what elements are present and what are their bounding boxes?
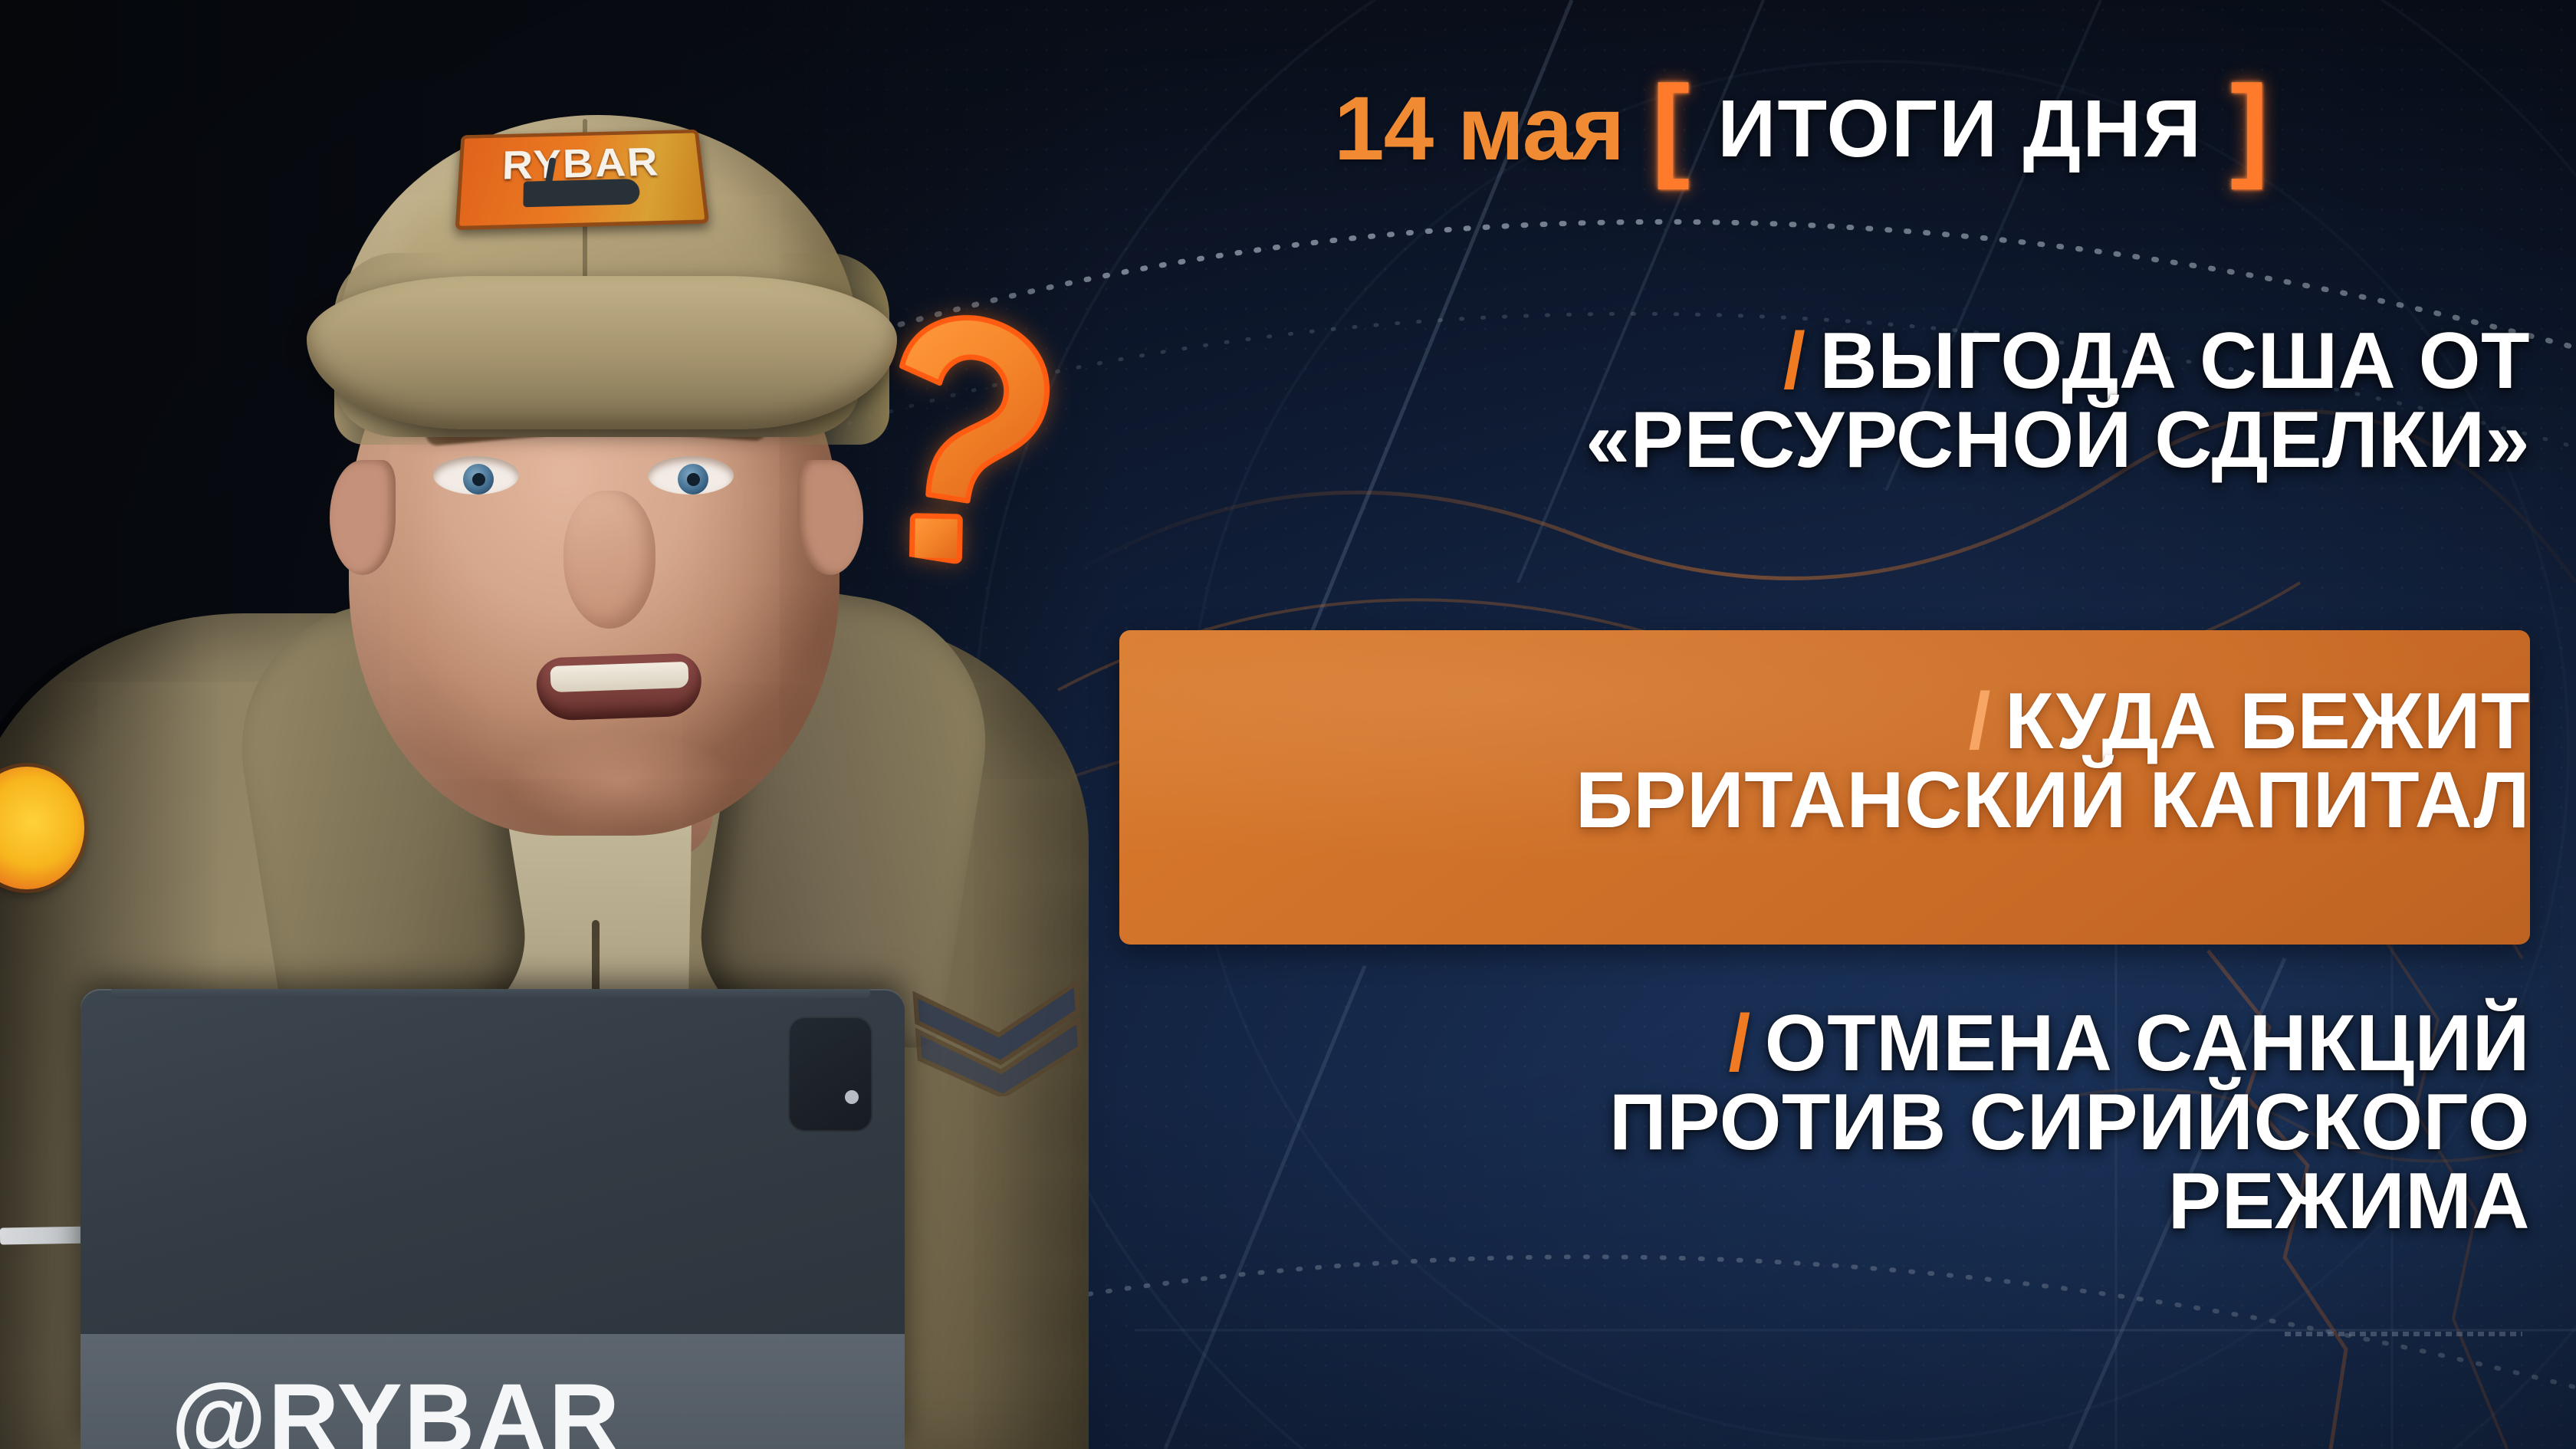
headline-1-line-1: /ВЫГОДА США ОТ <box>1181 322 2530 401</box>
tablet-camera-module <box>788 1017 872 1132</box>
headline-3-text-3: РЕЖИМА <box>1150 1162 2530 1241</box>
pupil-right <box>687 473 700 486</box>
rank-chevron-icon <box>907 975 1091 1102</box>
ear-left <box>330 460 396 575</box>
header-bar: 14 мая [ ИТОГИ ДНЯ ] <box>1334 77 2269 181</box>
presenter-figure: RYBAR @RYBAR <box>0 0 1150 1449</box>
headline-item-2: /КУДА БЕЖИТ БРИТАНСКИЙ КАПИТАЛ <box>1196 682 2530 840</box>
headline-3-text-2: ПРОТИВ СИРИЙСКОГО <box>1150 1083 2530 1162</box>
fish-icon <box>523 179 640 207</box>
nose <box>563 491 655 629</box>
headline-item-3: /ОТМЕНА САНКЦИЙ ПРОТИВ СИРИЙСКОГО РЕЖИМА <box>1150 1004 2530 1241</box>
presenter-tablet: @RYBAR <box>80 989 905 1449</box>
cap-brim <box>307 276 897 429</box>
headline-3-text-1: ОТМЕНА САНКЦИЙ <box>1765 999 2530 1088</box>
headline-2-marker: / <box>1969 682 1991 761</box>
cap-logo-patch: RYBAR <box>455 130 710 230</box>
teeth <box>550 662 688 692</box>
headline-item-1: /ВЫГОДА США ОТ «РЕСУРСНОЙ СДЕЛКИ» <box>1181 322 2530 480</box>
headline-2-text-1: КУДА БЕЖИТ <box>2005 677 2530 766</box>
headline-1-text-2: «РЕСУРСНОЙ СДЕЛКИ» <box>1181 401 2530 480</box>
headline-1-marker: / <box>1783 322 1806 401</box>
camera-lens-icon <box>845 1090 859 1104</box>
headline-3-line-1: /ОТМЕНА САНКЦИЙ <box>1150 1004 2530 1083</box>
bracket-left-icon: [ <box>1651 79 1690 173</box>
headline-3-marker: / <box>1728 1004 1750 1083</box>
chin-highlight <box>506 732 736 832</box>
pupil-left <box>472 473 485 486</box>
question-mark-icon <box>836 295 1088 579</box>
bracket-right-icon: ] <box>2230 79 2269 173</box>
channel-watermark: @RYBAR <box>171 1362 621 1449</box>
date-label: 14 мая <box>1334 77 1624 181</box>
broadcast-thumbnail: RYBAR @RYBAR <box>0 0 2576 1449</box>
headline-2-text-2: БРИТАНСКИЙ КАПИТАЛ <box>1196 761 2530 840</box>
header-title: ИТОГИ ДНЯ <box>1717 83 2203 176</box>
tablet-keyboard-hinge <box>111 989 870 998</box>
headline-1-text-1: ВЫГОДА США ОТ <box>1819 317 2530 406</box>
headline-2-line-1: /КУДА БЕЖИТ <box>1196 682 2530 761</box>
